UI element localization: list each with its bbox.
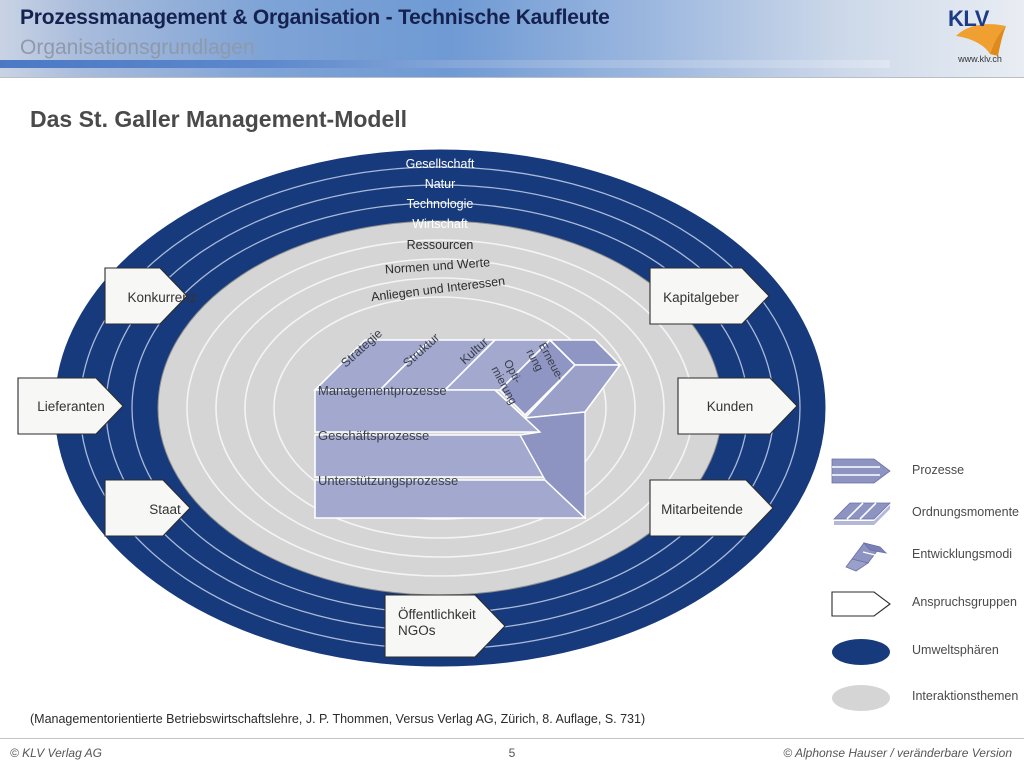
stakeholder-label-lieferanten: Lieferanten bbox=[26, 399, 116, 415]
diagram-legend: Prozesse Ordnungsmomente Entwicklungsmod… bbox=[822, 455, 1022, 705]
legend-label-umweltsphaeren: Umweltsphären bbox=[912, 643, 999, 657]
header-content: Prozessmanagement & Organisation - Techn… bbox=[0, 0, 1024, 78]
legend-item-prozesse: Prozesse bbox=[822, 455, 1022, 493]
processes-arrow-icon bbox=[830, 455, 896, 489]
stakeholder-label-mitarbeitende: Mitarbeitende bbox=[652, 502, 752, 518]
legend-item-umweltsphaeren: Umweltsphären bbox=[822, 635, 1022, 673]
page-title: Das St. Galler Management-Modell bbox=[30, 106, 407, 133]
stakeholder-label-staat: Staat bbox=[120, 502, 210, 518]
development-modes-icon bbox=[830, 539, 896, 573]
interaction-ellipse-icon bbox=[830, 681, 896, 715]
legend-item-anspruchsgruppen: Anspruchsgruppen bbox=[822, 587, 1022, 625]
legend-item-ordnungsmomente: Ordnungsmomente bbox=[822, 497, 1022, 535]
ring-label-gesellschaft: Gesellschaft bbox=[340, 157, 540, 171]
legend-item-interaktionsthemen: Interaktionsthemen bbox=[822, 681, 1022, 719]
header-subtitle: Organisationsgrundlagen bbox=[20, 36, 255, 60]
ring-label-ressourcen: Ressourcen bbox=[340, 238, 540, 252]
legend-label-entwicklungsmodi: Entwicklungsmodi bbox=[912, 547, 1012, 561]
legend-label-prozesse: Prozesse bbox=[912, 463, 964, 477]
source-note: (Managementorientierte Betriebswirtschaf… bbox=[30, 712, 645, 726]
logo-text: KLV bbox=[948, 6, 989, 32]
process-label-unterstuetzungsprozesse: Unterstützungsprozesse bbox=[318, 473, 458, 488]
footer-divider bbox=[0, 738, 1024, 739]
legend-label-interaktionsthemen: Interaktionsthemen bbox=[912, 689, 1018, 703]
ring-label-natur: Natur bbox=[340, 177, 540, 191]
st-galler-model-diagram: Gesellschaft Natur Technologie Wirtschaf… bbox=[0, 140, 840, 685]
header-accent-bar bbox=[0, 60, 890, 68]
stakeholder-label-konkurrenz: Konkurrenz bbox=[117, 290, 207, 306]
environment-ellipse-icon bbox=[830, 635, 896, 669]
logo-url: www.klv.ch bbox=[945, 54, 1015, 64]
legend-label-anspruchsgruppen: Anspruchsgruppen bbox=[912, 595, 1017, 609]
header-divider bbox=[0, 77, 1024, 78]
stakeholder-label-oeffentlichkeit-ngos: Öffentlichkeit NGOs bbox=[398, 607, 498, 639]
process-label-geschaeftsprozesse: Geschäftsprozesse bbox=[318, 428, 429, 443]
process-label-managementprozesse: Managementprozesse bbox=[318, 383, 447, 398]
slide-header: Prozessmanagement & Organisation - Techn… bbox=[0, 0, 1024, 78]
legend-label-ordnungsmomente: Ordnungsmomente bbox=[912, 505, 1019, 519]
footer-copyright-right: © Alphonse Hauser / veränderbare Version bbox=[783, 746, 1012, 760]
ring-label-wirtschaft: Wirtschaft bbox=[340, 217, 540, 231]
legend-item-entwicklungsmodi: Entwicklungsmodi bbox=[822, 539, 1022, 577]
header-title: Prozessmanagement & Organisation - Techn… bbox=[20, 6, 610, 30]
ordering-moments-icon bbox=[830, 497, 896, 531]
ring-label-technologie: Technologie bbox=[340, 197, 540, 211]
stakeholder-arrow-icon bbox=[830, 587, 896, 621]
klv-logo: KLV www.klv.ch bbox=[940, 4, 1014, 74]
stakeholder-label-kapitalgeber: Kapitalgeber bbox=[654, 290, 748, 306]
stakeholder-label-kunden: Kunden bbox=[683, 399, 777, 415]
